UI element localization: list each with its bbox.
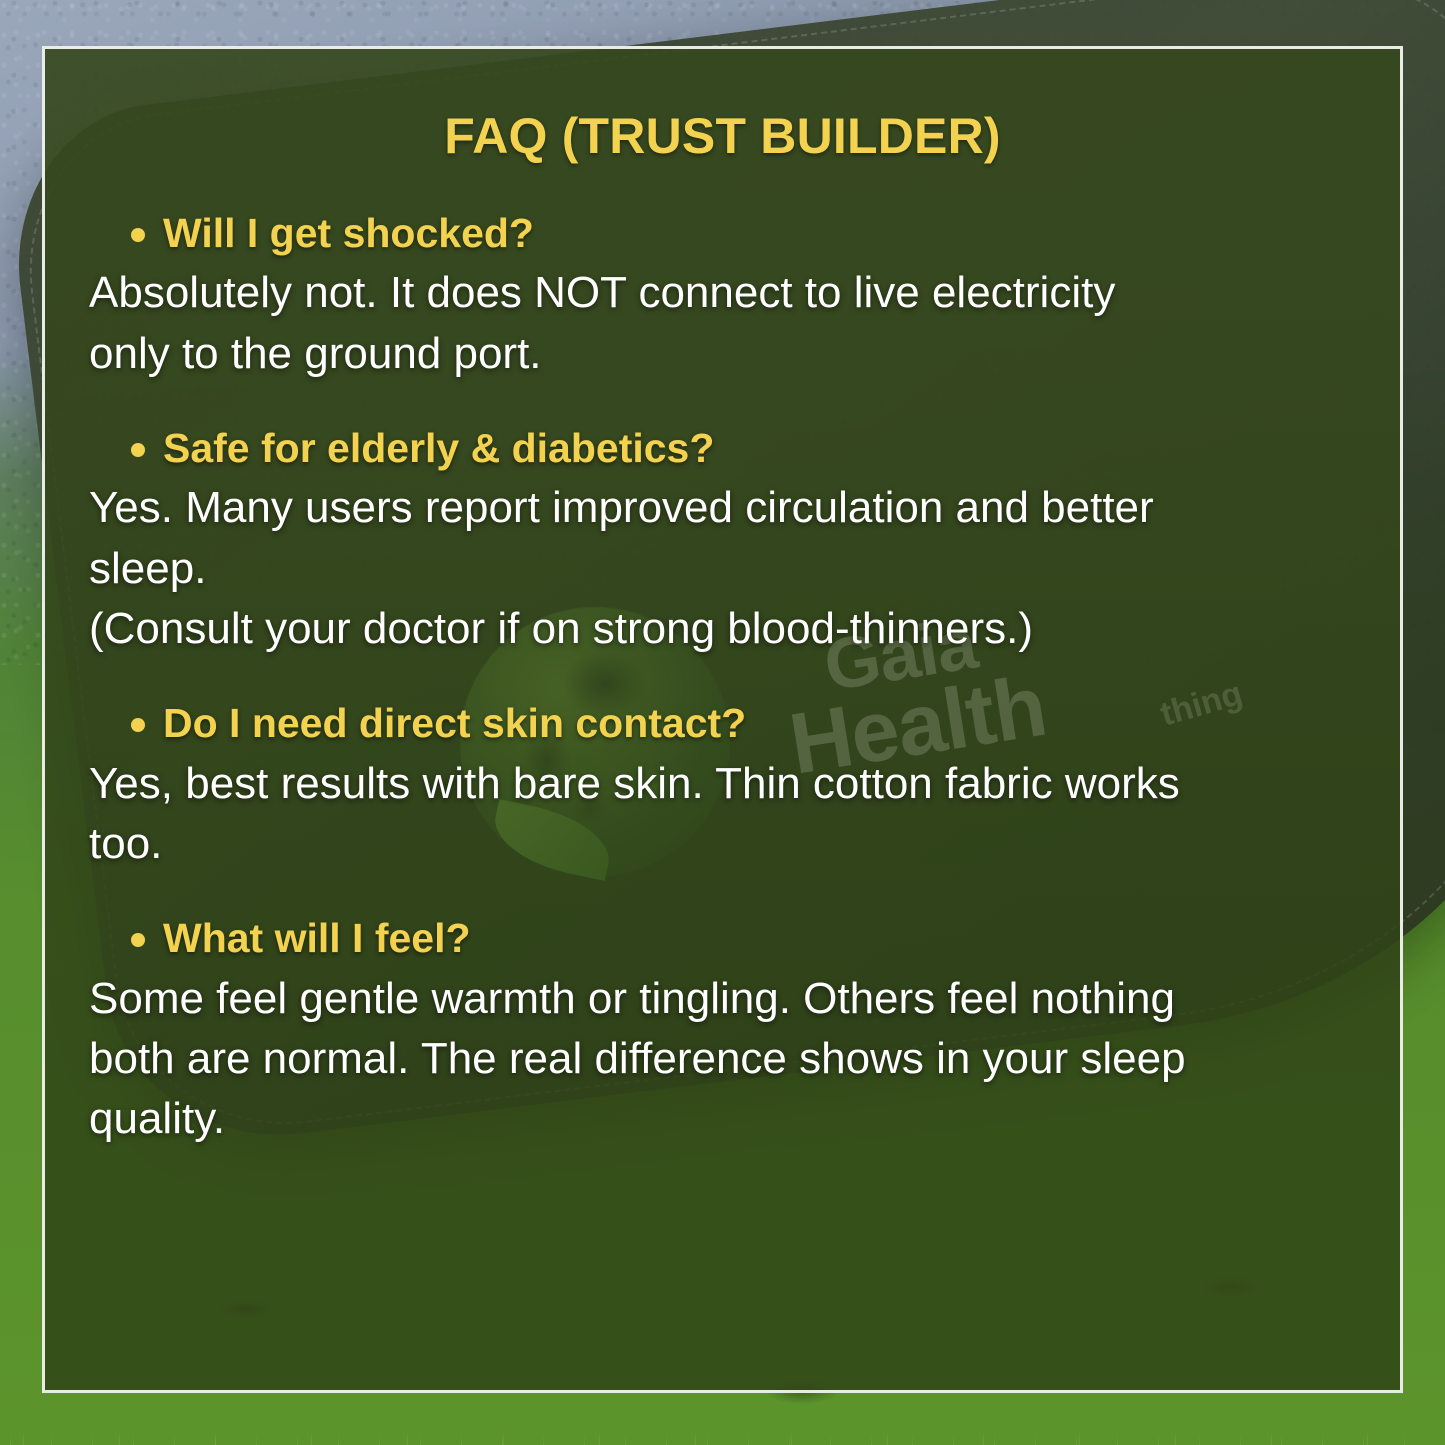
faq-answer: Some feel gentle warmth or tingling. Oth…: [79, 969, 1370, 1150]
faq-question: Safe for elderly & diabetics?: [79, 422, 1370, 474]
faq-list: Will I get shocked? Absolutely not. It d…: [45, 207, 1400, 1188]
faq-answer: Yes. Many users report improved circulat…: [79, 478, 1370, 659]
faq-question-text: Do I need direct skin contact?: [163, 700, 746, 746]
bullet-icon: [131, 718, 145, 732]
page-title: FAQ (TRUST BUILDER): [45, 107, 1400, 165]
faq-question-text: Will I get shocked?: [163, 210, 534, 256]
faq-question-text: What will I feel?: [163, 915, 471, 961]
faq-content: FAQ (TRUST BUILDER) Will I get shocked? …: [45, 49, 1400, 1390]
faq-answer: Yes, best results with bare skin. Thin c…: [79, 754, 1370, 875]
content-panel: Gaia Health thing FAQ (TRUST BUILDER) Wi…: [42, 46, 1403, 1393]
faq-item: Safe for elderly & diabetics? Yes. Many …: [79, 422, 1370, 659]
faq-question: Will I get shocked?: [79, 207, 1370, 259]
faq-answer: Absolutely not. It does NOT connect to l…: [79, 263, 1370, 384]
bullet-icon: [131, 443, 145, 457]
bullet-icon: [131, 228, 145, 242]
faq-item: What will I feel? Some feel gentle warmt…: [79, 912, 1370, 1149]
faq-item: Do I need direct skin contact? Yes, best…: [79, 697, 1370, 874]
faq-question: What will I feel?: [79, 912, 1370, 964]
faq-item: Will I get shocked? Absolutely not. It d…: [79, 207, 1370, 384]
faq-poster: Gaia Health thing FAQ (TRUST BUILDER) Wi…: [0, 0, 1445, 1445]
faq-question: Do I need direct skin contact?: [79, 697, 1370, 749]
faq-question-text: Safe for elderly & diabetics?: [163, 425, 714, 471]
bullet-icon: [131, 933, 145, 947]
